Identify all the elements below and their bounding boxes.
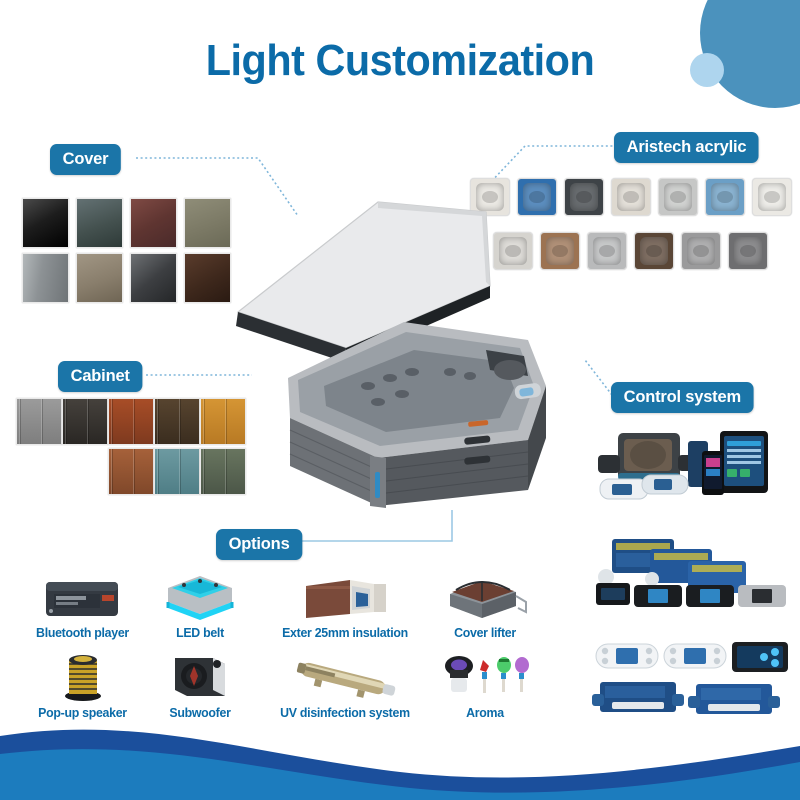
cover-swatch[interactable]	[130, 253, 177, 303]
acrylic-swatch[interactable]	[611, 178, 651, 216]
footer-wave-decoration	[0, 710, 800, 800]
subwoofer-icon	[145, 650, 255, 702]
acrylic-swatch[interactable]	[728, 232, 768, 270]
cabinet-swatch[interactable]	[154, 448, 200, 495]
cover-swatch[interactable]	[76, 253, 123, 303]
option-label: Exter 25mm insulation	[269, 625, 421, 640]
option-led-belt[interactable]: LED belt	[145, 570, 255, 640]
cover-swatch[interactable]	[76, 198, 123, 248]
badge-acrylic[interactable]: Aristech acrylic	[614, 132, 759, 163]
badge-cabinet[interactable]: Cabinet	[58, 361, 142, 392]
acrylic-swatch[interactable]	[634, 232, 674, 270]
option-exter-insulation[interactable]: Exter 25mm insulation	[265, 570, 425, 640]
cabinet-swatch[interactable]	[108, 448, 154, 495]
cabinet-row-1	[16, 398, 246, 445]
cabinet-swatch[interactable]	[108, 398, 154, 445]
cover-swatch[interactable]	[130, 198, 177, 248]
acrylic-swatch[interactable]	[658, 178, 698, 216]
cover-lifter-icon	[425, 570, 545, 622]
acrylic-swatch[interactable]	[681, 232, 721, 270]
aroma-icon	[425, 650, 545, 702]
cover-swatch[interactable]	[184, 253, 231, 303]
cabinet-swatch[interactable]	[16, 398, 62, 445]
option-label: Bluetooth player	[14, 625, 152, 640]
acrylic-swatch[interactable]	[564, 178, 604, 216]
badge-control-system[interactable]: Control system	[611, 382, 754, 413]
badge-options[interactable]: Options	[216, 529, 302, 560]
hot-tub-illustration	[228, 190, 568, 510]
control-system-group-1	[592, 425, 792, 510]
control-system-group-2	[592, 535, 792, 615]
insulation-icon	[265, 570, 425, 622]
cover-swatch[interactable]	[184, 198, 231, 248]
led-belt-icon	[145, 570, 255, 622]
option-label: Cover lifter	[428, 625, 542, 640]
badge-cover[interactable]: Cover	[50, 144, 121, 175]
cabinet-swatch[interactable]	[154, 398, 200, 445]
acrylic-swatch[interactable]	[587, 232, 627, 270]
bluetooth-player-icon	[10, 570, 155, 622]
cover-swatch[interactable]	[22, 198, 69, 248]
option-label: LED belt	[148, 625, 253, 640]
acrylic-swatch[interactable]	[752, 178, 792, 216]
cover-swatch-grid	[22, 198, 231, 303]
cabinet-swatch[interactable]	[62, 398, 108, 445]
option-cover-lifter[interactable]: Cover lifter	[425, 570, 545, 640]
cabinet-row-2	[108, 448, 246, 495]
page-title: Light Customization	[24, 36, 776, 86]
infographic-canvas: Light Customization Cover Cabinet	[0, 0, 800, 800]
uv-disinfection-icon	[265, 650, 425, 702]
control-system-group-3	[592, 640, 792, 720]
cover-swatch[interactable]	[22, 253, 69, 303]
acrylic-swatch[interactable]	[705, 178, 745, 216]
option-bluetooth-player[interactable]: Bluetooth player	[10, 570, 155, 640]
popup-speaker-icon	[10, 650, 155, 702]
